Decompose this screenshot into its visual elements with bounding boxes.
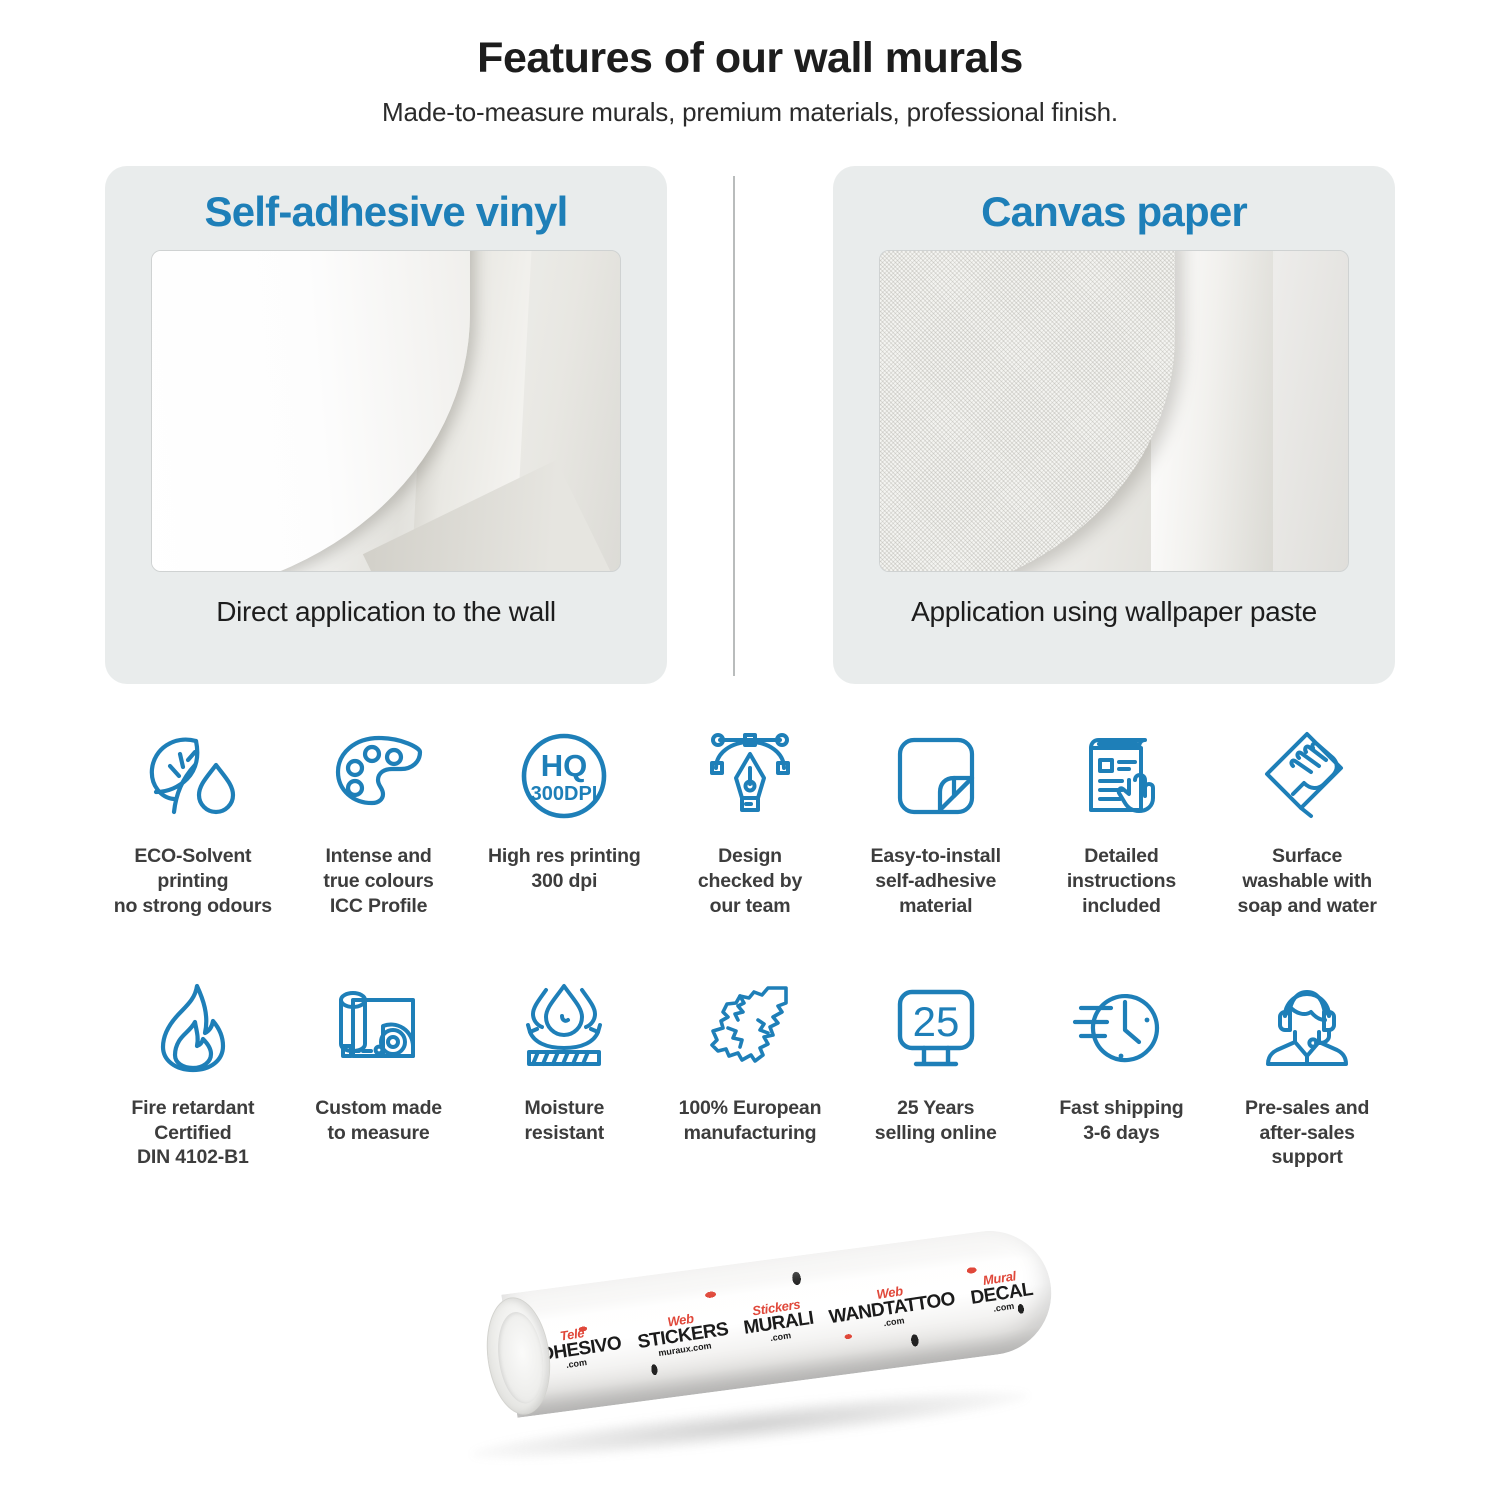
tube-brand: Mural DECAL .com [968, 1266, 1036, 1316]
feature-moisture-resistant: Moisture resistant [471, 970, 657, 1170]
peeling-sticker-icon [878, 718, 994, 834]
feature-design-checked: Design checked by our team [657, 718, 843, 918]
panel-title-vinyl: Self-adhesive vinyl [205, 188, 568, 236]
tube-end-cap-inner [493, 1309, 549, 1406]
feature-label: 100% European manufacturing [679, 1096, 822, 1145]
feature-label: Design checked by our team [698, 844, 802, 918]
feature-label: ECO-Solvent printing no strong odours [114, 844, 272, 918]
feature-label: Fire retardant Certified DIN 4102-B1 [131, 1096, 254, 1170]
feature-fast-shipping: Fast shipping 3-6 days [1029, 970, 1215, 1170]
paint-palette-icon [321, 718, 437, 834]
feature-high-res: HQ 300DPI High res printing 300 dpi [471, 718, 657, 918]
panel-caption-vinyl: Direct application to the wall [216, 594, 556, 630]
water-drop-shield-icon [506, 970, 622, 1086]
svg-text:300DPI: 300DPI [531, 783, 598, 805]
panel-canvas-paper[interactable]: Canvas paper Application using wallpaper… [833, 166, 1395, 684]
tube-brand: Web STICKERS muraux.com [634, 1306, 730, 1360]
fast-clock-icon [1063, 970, 1179, 1086]
feature-label: Moisture resistant [524, 1096, 604, 1145]
feature-custom-made: Custom made to measure [286, 970, 472, 1170]
panel-title-canvas: Canvas paper [981, 188, 1247, 236]
feature-label: Intense and true colours ICC Profile [323, 844, 433, 918]
panel-caption-canvas: Application using wallpaper paste [911, 594, 1317, 630]
feature-instructions: Detailed instructions included [1029, 718, 1215, 918]
leaf-drop-icon [135, 718, 251, 834]
shipping-tube-section: Tele ADHESIVO .com Web STICKERS muraux.c… [0, 1232, 1500, 1492]
feature-label: Easy-to-install self-adhesive material [871, 844, 1001, 918]
material-comparison-section: Self-adhesive vinyl Direct application t… [105, 166, 1395, 684]
headset-agent-icon [1249, 970, 1365, 1086]
canvas-material-photo [879, 250, 1349, 572]
page-subtitle: Made-to-measure murals, premium material… [0, 97, 1500, 128]
monitor-25-icon: 25 [878, 970, 994, 1086]
feature-washable: Surface washable with soap and water [1214, 718, 1400, 918]
feature-25-years: 25 25 Years selling online [843, 970, 1029, 1170]
europe-map-icon [692, 970, 808, 1086]
hq-300dpi-badge-icon: HQ 300DPI [506, 718, 622, 834]
page-title: Features of our wall murals [0, 34, 1500, 83]
features-grid: ECO-Solvent printing no strong odours In… [100, 718, 1400, 1169]
feature-european-manufacturing: 100% European manufacturing [657, 970, 843, 1170]
svg-text:25: 25 [912, 998, 959, 1045]
feature-label: Pre-sales and after-sales support [1245, 1096, 1369, 1170]
tube-brand: Web WANDTATTOO .com [826, 1276, 958, 1335]
feature-label: Custom made to measure [315, 1096, 442, 1145]
feature-true-colours: Intense and true colours ICC Profile [286, 718, 472, 918]
tube-brand: Stickers MURALI .com [740, 1295, 816, 1346]
panel-self-adhesive-vinyl[interactable]: Self-adhesive vinyl Direct application t… [105, 166, 667, 684]
feature-eco-solvent: ECO-Solvent printing no strong odours [100, 718, 286, 918]
feature-label: Detailed instructions included [1067, 844, 1176, 918]
panel-divider [733, 176, 735, 676]
feature-easy-install: Easy-to-install self-adhesive material [843, 718, 1029, 918]
tube-body: Tele ADHESIVO .com Web STICKERS muraux.c… [501, 1223, 1059, 1417]
svg-text:HQ: HQ [541, 748, 588, 783]
feature-label: High res printing 300 dpi [488, 844, 641, 893]
feature-support: Pre-sales and after-sales support [1214, 970, 1400, 1170]
feature-fire-retardant: Fire retardant Certified DIN 4102-B1 [100, 970, 286, 1170]
feature-label: Fast shipping 3-6 days [1059, 1096, 1183, 1145]
vinyl-material-photo [151, 250, 621, 572]
pen-nib-bezier-icon [692, 718, 808, 834]
roll-tape-measure-icon [321, 970, 437, 1086]
page-root: Features of our wall murals Made-to-meas… [0, 0, 1500, 1500]
feature-label: Surface washable with soap and water [1238, 844, 1377, 918]
page-header: Features of our wall murals Made-to-meas… [0, 0, 1500, 128]
hand-wiping-cloth-icon [1249, 718, 1365, 834]
instructions-hand-icon [1063, 718, 1179, 834]
feature-label: 25 Years selling online [875, 1096, 997, 1145]
flame-icon [135, 970, 251, 1086]
tube-brand-list: Tele ADHESIVO .com Web STICKERS muraux.c… [501, 1223, 1059, 1417]
